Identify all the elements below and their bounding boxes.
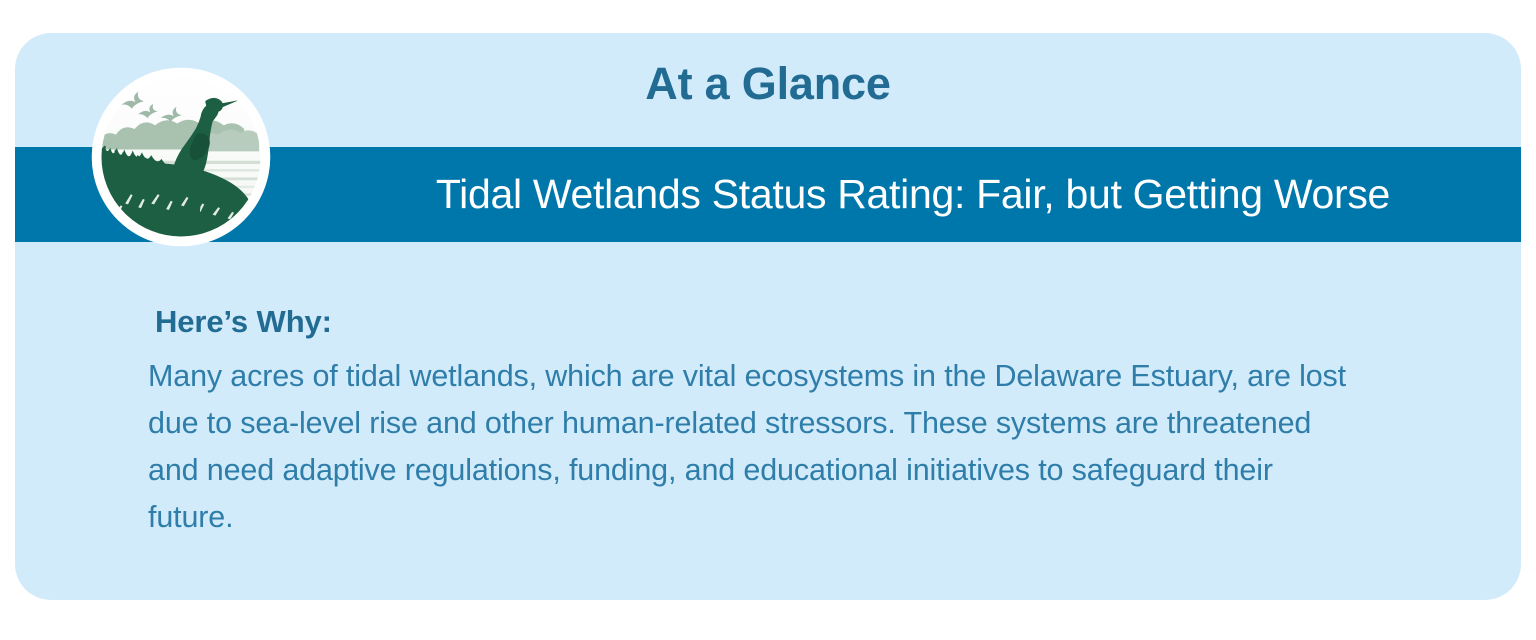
status-banner-title: Tidal Wetlands Status Rating: Fair, but … [323, 174, 1503, 215]
page-root: At a Glance Tidal Wetlands Status Rating… [0, 0, 1536, 640]
body-block: Here’s Why: Many acres of tidal wetlands… [148, 306, 1448, 541]
heron-wetland-logo-icon [88, 64, 274, 250]
body-paragraph: Many acres of tidal wetlands, which are … [148, 353, 1363, 541]
heres-why-subheading: Here’s Why: [148, 306, 1448, 337]
